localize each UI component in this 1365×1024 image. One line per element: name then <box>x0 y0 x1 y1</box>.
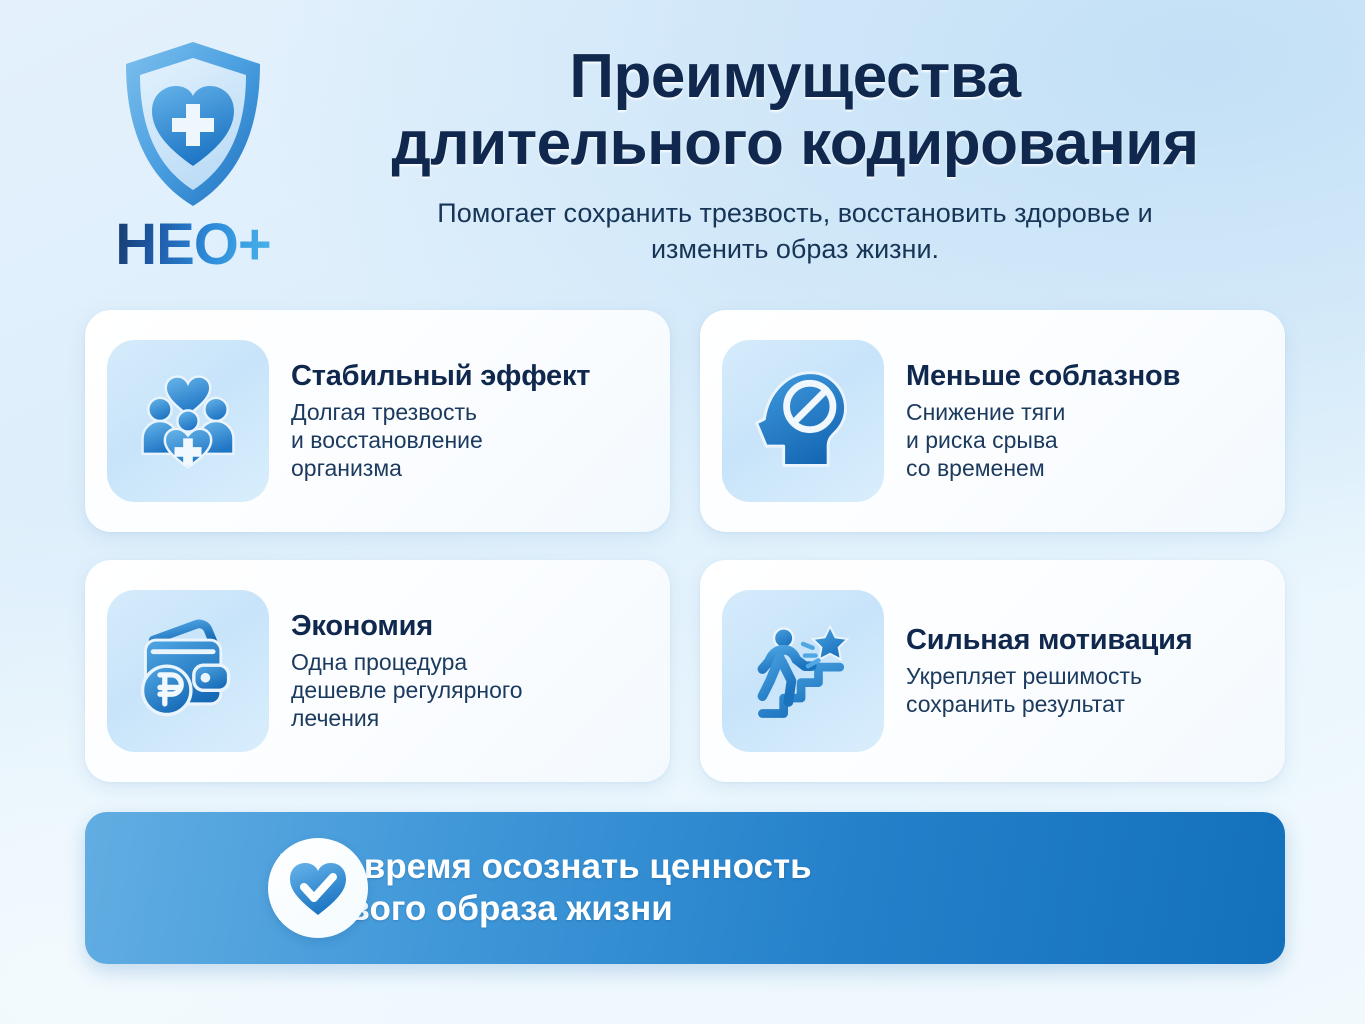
page-title: Преимущества длительного кодирования <box>300 44 1290 178</box>
card-description: Снижение тяги и риска срыва со временем <box>906 398 1259 482</box>
icon-tile <box>107 340 269 502</box>
page-title-line1: Преимущества <box>569 42 1020 111</box>
card-title: Меньше соблазнов <box>906 360 1259 392</box>
head-no-sign-icon <box>745 363 861 479</box>
family-heart-plus-icon <box>130 363 246 479</box>
card-text: Экономия Одна процедура дешевле регулярн… <box>291 610 648 733</box>
benefits-grid: Стабильный эффект Долгая трезвость и вос… <box>85 310 1285 782</box>
icon-tile <box>107 590 269 752</box>
benefit-card-stable-effect[interactable]: Стабильный эффект Долгая трезвость и вос… <box>85 310 670 532</box>
card-text: Сильная мотивация Укрепляет решимость со… <box>906 624 1263 719</box>
benefit-card-motivation[interactable]: Сильная мотивация Укрепляет решимость со… <box>700 560 1285 782</box>
page-subtitle: Помогает сохранить трезвость, восстанови… <box>415 196 1175 268</box>
benefit-card-savings[interactable]: Экономия Одна процедура дешевле регулярн… <box>85 560 670 782</box>
wallet-ruble-icon <box>130 613 246 729</box>
page-title-line2: длительного кодирования <box>391 109 1198 178</box>
infographic-poster: НЕО+ Преимущества длительного кодировани… <box>0 0 1365 1024</box>
card-text: Меньше соблазнов Снижение тяги и риска с… <box>906 360 1263 483</box>
brand-logo: НЕО+ <box>78 38 308 293</box>
footer-banner[interactable]: Даёт время осознать ценность трезвого об… <box>85 812 1285 964</box>
banner-badge <box>268 838 368 938</box>
card-description: Одна процедура дешевле регулярного лечен… <box>291 648 644 732</box>
card-description: Долгая трезвость и восстановление органи… <box>291 398 644 482</box>
card-title: Сильная мотивация <box>906 624 1259 656</box>
benefit-card-fewer-temptations[interactable]: Меньше соблазнов Снижение тяги и риска с… <box>700 310 1285 532</box>
card-title: Экономия <box>291 610 644 642</box>
card-description: Укрепляет решимость сохранить результат <box>906 662 1259 718</box>
title-block: Преимущества длительного кодирования Пом… <box>300 44 1290 268</box>
brand-wordmark: НЕО+ <box>115 216 271 274</box>
card-text: Стабильный эффект Долгая трезвость и вос… <box>291 360 648 483</box>
icon-tile <box>722 590 884 752</box>
stairs-star-climber-icon <box>745 613 861 729</box>
card-title: Стабильный эффект <box>291 360 644 392</box>
header: НЕО+ Преимущества длительного кодировани… <box>0 0 1365 305</box>
heart-check-circle-icon <box>287 857 349 919</box>
icon-tile <box>722 340 884 502</box>
shield-heart-plus-icon <box>118 38 268 210</box>
